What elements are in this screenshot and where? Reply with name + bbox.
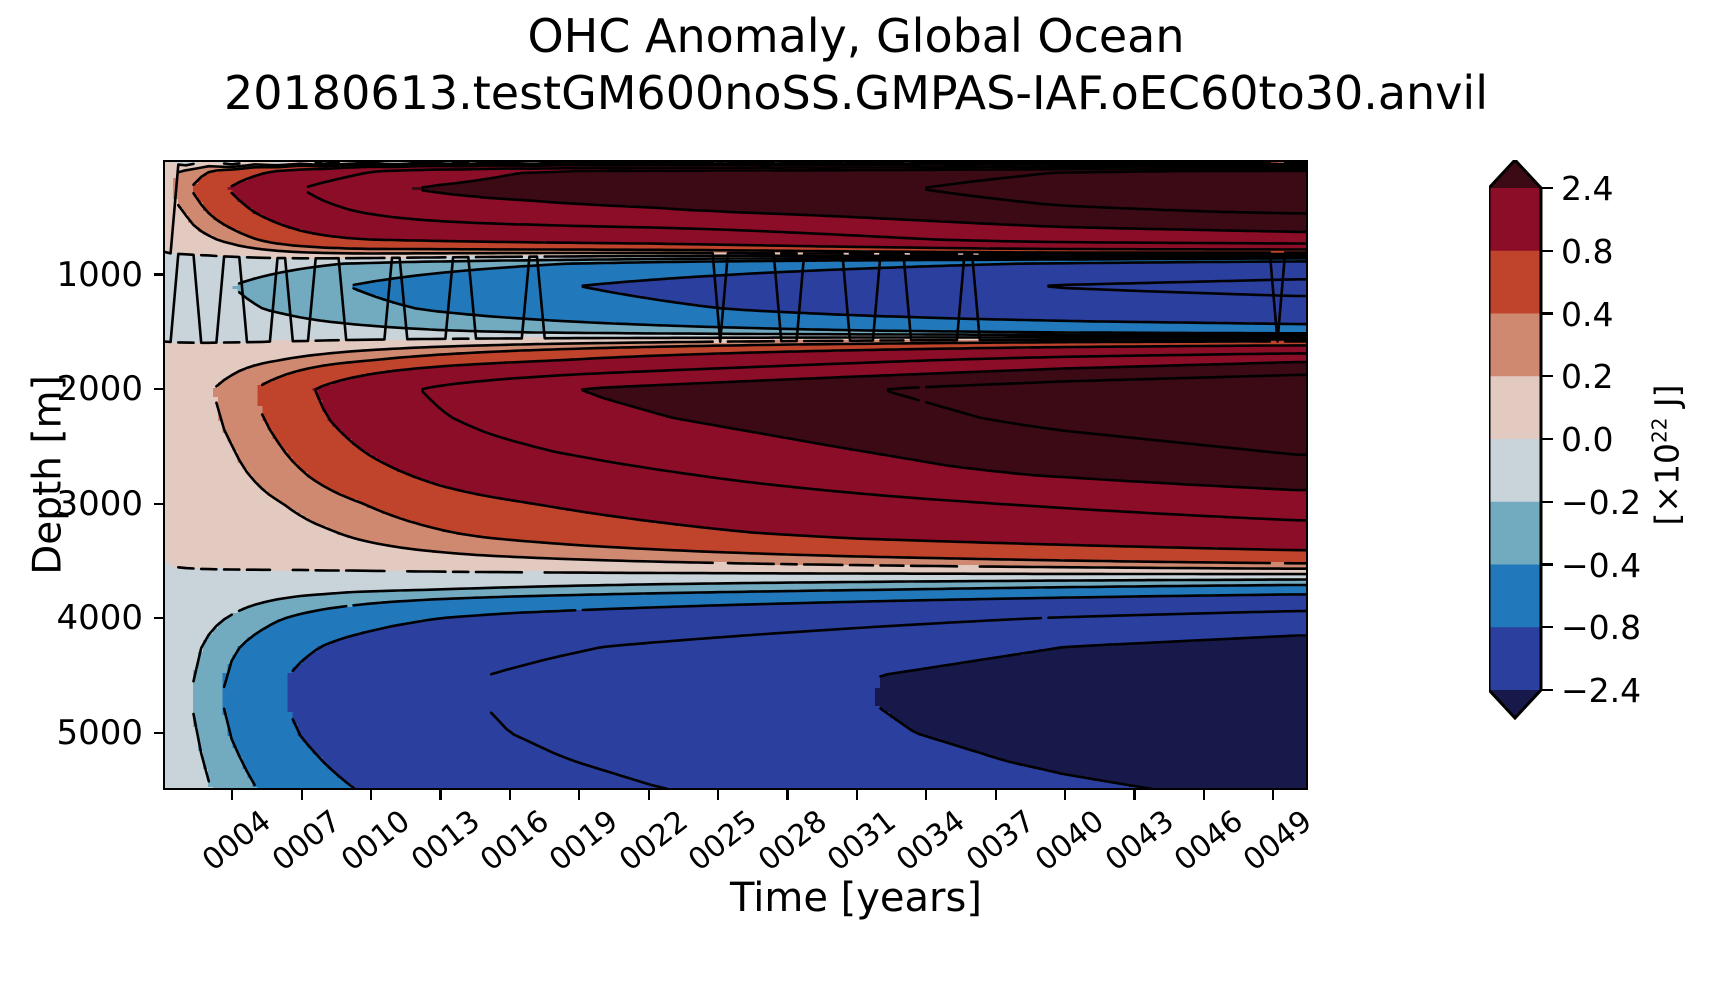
colorbar-tick-mark [1541,626,1553,628]
x-tick-mark [439,790,441,800]
y-tick-label: 5000 [3,716,143,750]
colorbar-label: [×1022 J] [1648,384,1687,525]
x-tick-mark [1133,790,1135,800]
colorbar-tick-mark [1541,438,1553,440]
y-tick-mark [154,388,163,390]
colorbar-tick-mark [1541,563,1553,565]
figure-canvas: OHC Anomaly, Global Ocean 20180613.testG… [0,0,1712,947]
x-tick-mark [1272,790,1274,800]
y-tick-label: 2000 [3,372,143,406]
x-tick-mark [509,790,511,800]
title-line-2: 20180613.testGM600noSS.GMPAS-IAF.oEC60to… [0,65,1712,122]
x-tick-mark [648,790,650,800]
colorbar-tick-label: 0.8 [1561,235,1613,268]
contour-axes [163,160,1308,790]
colorbar-tick-mark [1541,250,1553,252]
figure-title: OHC Anomaly, Global Ocean 20180613.testG… [0,8,1712,122]
colorbar-tick-mark [1541,501,1553,503]
x-tick-mark [301,790,303,800]
x-axis-label: Time [years] [0,875,1712,921]
x-tick-mark [786,790,788,800]
x-tick-mark [578,790,580,800]
colorbar: 2.40.80.40.20.0−0.2−0.4−0.8−2.4 [×1022 J… [1489,160,1712,750]
x-tick-mark [1064,790,1066,800]
y-tick-mark [154,732,163,734]
y-tick-label: 1000 [3,258,143,292]
colorbar-tick-mark [1541,187,1553,189]
colorbar-label-exponent: 22 [1648,418,1672,443]
contour-field [163,160,1308,790]
x-tick-mark [1203,790,1205,800]
colorbar-tick-label: 0.4 [1561,298,1613,331]
colorbar-tick-label: 2.4 [1561,172,1613,205]
title-line-1: OHC Anomaly, Global Ocean [0,8,1712,65]
x-tick-mark [995,790,997,800]
y-tick-mark [154,617,163,619]
colorbar-tick-label: 0.0 [1561,423,1613,456]
y-tick-mark [154,273,163,275]
x-tick-mark [717,790,719,800]
y-axis-label: Depth [m] [26,375,71,575]
x-tick-mark [856,790,858,800]
colorbar-label-tail: J] [1648,384,1687,417]
y-tick-mark [154,503,163,505]
colorbar-tick-label: −0.4 [1561,549,1641,582]
colorbar-label-mantissa: [×10 [1648,443,1687,526]
colorbar-tick-label: −0.8 [1561,611,1641,644]
y-tick-label: 4000 [3,601,143,635]
colorbar-tick-label: −2.4 [1561,674,1641,707]
x-tick-mark [231,790,233,800]
x-tick-mark [925,790,927,800]
colorbar-tick-label: 0.2 [1561,360,1613,393]
x-tick-mark [370,790,372,800]
y-tick-label: 3000 [3,487,143,521]
colorbar-tick-mark [1541,312,1553,314]
colorbar-tick-mark [1541,689,1553,691]
colorbar-tick-mark [1541,375,1553,377]
colorbar-tick-label: −0.2 [1561,486,1641,519]
